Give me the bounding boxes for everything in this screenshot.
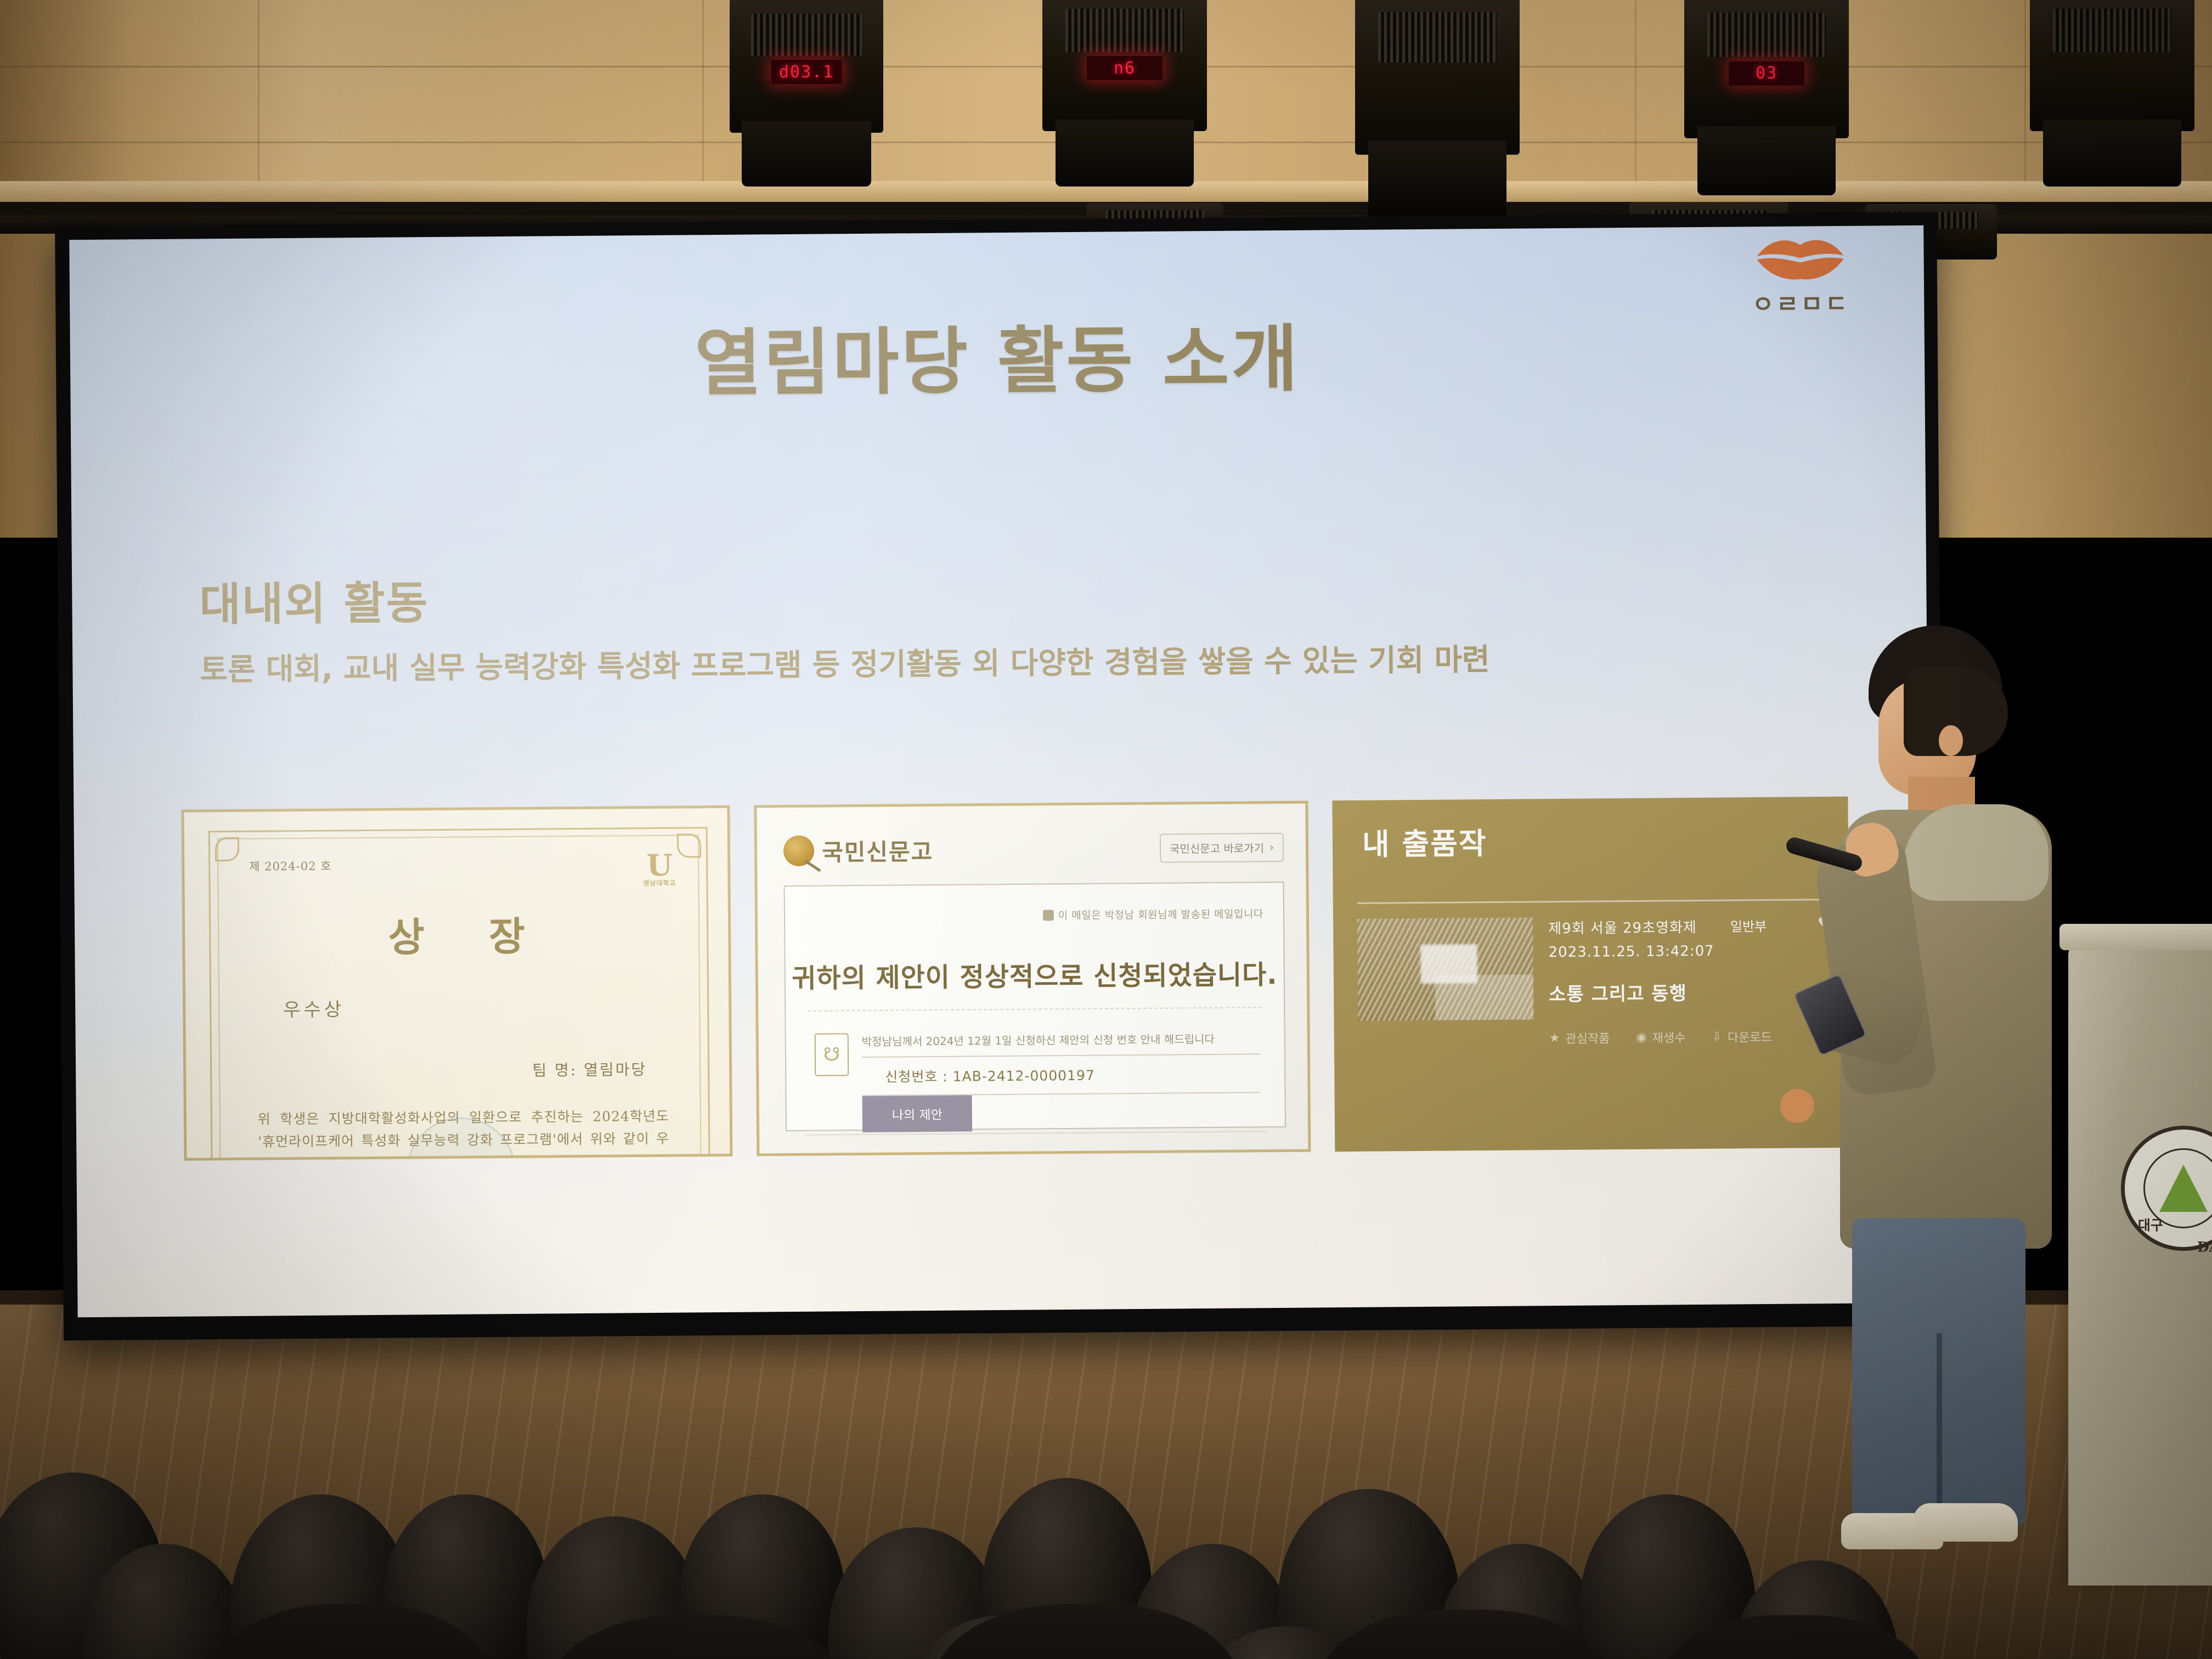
entry-thumbnail[interactable] (1357, 917, 1533, 1021)
emblem-text-kr: 대구 (2138, 1215, 2163, 1234)
thumbnail-highlight (1435, 975, 1534, 1020)
divider (808, 1007, 1262, 1012)
slide: ㅇㄹㅁㄷ 열림마당 활동 소개 대내외 활동 토론 대회, 교내 실무 능력강화… (69, 225, 1932, 1317)
portal-field-label: 제안제목 (817, 1152, 911, 1156)
entry-festival: 제9회 서울 29초영화제 (1548, 915, 1832, 938)
seal-subtext: 영남대학교 (643, 880, 676, 887)
portal-goto-label: 국민신문고 바로가기 (1170, 839, 1264, 856)
chevron-right-icon: › (1269, 840, 1274, 854)
stage-light (2030, 0, 2194, 187)
stage-light (1355, 0, 1520, 219)
podium-top (2059, 924, 2212, 950)
light-lens (1056, 120, 1194, 187)
presenter-ear (1939, 725, 1963, 756)
light-vent-grid (1378, 12, 1497, 63)
entry-film-title: 소통 그리고 동행 (1549, 977, 1833, 1006)
light-lens (2043, 120, 2181, 187)
portal-sentence: 박정남님께서 2024년 12월 1일 신청하신 제안의 신청 번호 안내 해드… (862, 1030, 1260, 1049)
presenter-hood (1904, 804, 2049, 901)
light-vent-grid (751, 14, 862, 56)
portal-appno-value: 1AB-2412-0000197 (953, 1068, 1095, 1085)
portal-field-row: 제안제목 더 나은 환경 보호를 위한 개선안 (817, 1149, 1261, 1156)
university-emblem: 대구 DAEGU (2121, 1126, 2212, 1251)
certificate-paragraph: 위 학생은 지방대학활성화사업의 일환으로 추진하는 2024학년도 '휴먼라이… (258, 1105, 670, 1161)
photo-scene: d03.1 n6 03 (0, 0, 2212, 1659)
entry-category: 일반부 (1730, 916, 1767, 935)
page-title: 열림마당 활동 소개 (70, 296, 1925, 415)
download-icon: ⇩ (1712, 1030, 1722, 1043)
section-heading: 대내외 활동 (199, 566, 429, 633)
portal-application-row: ☋ 박정남님께서 2024년 12월 1일 신청하신 제안의 신청 번호 안내 … (815, 1030, 1261, 1132)
portal-fields: 제안제목 더 나은 환경 보호를 위한 개선안 신청기관 환경부 (817, 1149, 1261, 1156)
wall-seam-vertical (1635, 0, 1637, 187)
light-vent-grid (2053, 9, 2171, 52)
certificate-prize: 우수상 (283, 994, 345, 1022)
certificate-corner-ornament (215, 837, 239, 861)
seal-letter: U (646, 848, 673, 883)
stage-light: n6 (1042, 0, 1207, 187)
portal-application-number: 신청번호 : 1AB-2412-0000197 (862, 1053, 1261, 1096)
mail-icon (1043, 910, 1054, 921)
certificate-card: 제 2024-02 호 U 영남대학교 상 장 우수상 팀 명: 열림마당 위 (181, 805, 732, 1161)
stage-light: d03.1 (730, 0, 883, 187)
certificate-doc-number: 제 2024-02 호 (249, 857, 331, 874)
emblem-text-ring: 대구 DAEGU (2125, 1130, 2212, 1247)
floating-action-button[interactable] (1780, 1088, 1814, 1122)
portal-appno-label: 신청번호 : (885, 1069, 948, 1085)
entry-stat-value: 재생수 (1652, 1028, 1686, 1046)
portal-brand: 국민신문고 (783, 833, 934, 867)
my-entry-card: 내 출품작 1 일반부 제9회 서울 29초영화제 2023.11 (1332, 797, 1850, 1152)
entry-metadata: 일반부 제9회 서울 29초영화제 2023.11.25. 13:42:07 소… (1548, 915, 1833, 1047)
portal-note: 이 메일은 박정남 회원님께 발송된 메일입니다 (1043, 906, 1264, 922)
certificate-team-label: 팀 명: (532, 1061, 577, 1080)
portal-field-value: 더 나은 환경 보호를 위한 개선안 (911, 1149, 1261, 1156)
entry-stat-value: 다운로드 (1728, 1028, 1772, 1046)
emblem-text-en: DAEGU (2197, 1239, 2212, 1255)
portal-content-box: 이 메일은 박정남 회원님께 발송된 메일입니다 귀하의 제안이 정상적으로 신… (784, 882, 1286, 1131)
entry-stat-value: 관심작품 (1565, 1029, 1610, 1047)
brush-seal-icon (783, 836, 814, 866)
entry-item[interactable]: 1 일반부 제9회 서울 29초영화제 2023.11.25. 13:42:07… (1357, 915, 1833, 1048)
lips-icon (1753, 236, 1847, 281)
wall-seam-vertical (2024, 0, 2026, 187)
projection-screen-frame: ㅇㄹㅁㄷ 열림마당 활동 소개 대내외 활동 토론 대회, 교내 실무 능력강화… (55, 212, 1945, 1341)
light-led-display: n6 (1087, 56, 1163, 80)
portal-screenshot-card: 국민신문고 국민신문고 바로가기 › 이 메일은 박정남 회원님께 발송된 메일… (754, 801, 1311, 1156)
university-seal: U 영남대학교 (643, 850, 676, 887)
card-row: 제 2024-02 호 U 영남대학교 상 장 우수상 팀 명: 열림마당 위 (181, 797, 1850, 1161)
my-entry-title: 내 출품작 (1362, 819, 1487, 864)
projection-screen: ㅇㄹㅁㄷ 열림마당 활동 소개 대내외 활동 토론 대회, 교내 실무 능력강화… (69, 225, 1932, 1317)
light-vent-grid (1065, 9, 1184, 52)
light-led-display: d03.1 (771, 60, 842, 84)
portal-application-detail: 박정남님께서 2024년 12월 1일 신청하신 제안의 신청 번호 안내 해드… (862, 1030, 1261, 1132)
certificate-badge-icon: ☋ (815, 1033, 849, 1076)
portal-goto-link[interactable]: 국민신문고 바로가기 › (1160, 832, 1284, 862)
star-icon: ★ (1549, 1031, 1560, 1045)
wall-seam-vertical (702, 0, 704, 187)
my-proposal-button[interactable]: 나의 제안 (862, 1095, 973, 1132)
light-led-display: 03 (1729, 61, 1804, 86)
portal-header: 국민신문고 국민신문고 바로가기 › (783, 823, 1284, 874)
portal-headline: 귀하의 제안이 정상적으로 신청되었습니다. (786, 953, 1284, 995)
wall-seam-vertical (258, 0, 259, 187)
divider (1357, 899, 1832, 904)
portal-brand-name: 국민신문고 (822, 833, 934, 867)
certificate-title: 상 장 (185, 902, 729, 964)
certificate-team-value: 열림마당 (584, 1060, 647, 1079)
entry-stats: ★ 관심작품 ◉ 재생수 ⇩ 다운로드 (1549, 1027, 1833, 1047)
certificate-corner-ornament (677, 833, 701, 857)
eye-icon: ◉ (1636, 1030, 1646, 1044)
light-lens (742, 121, 871, 187)
entry-stat: ★ 관심작품 (1549, 1029, 1610, 1047)
certificate-team: 팀 명: 열림마당 (532, 1058, 647, 1081)
light-lens (1368, 141, 1506, 219)
entry-stat: ⇩ 다운로드 (1712, 1028, 1772, 1046)
audience (0, 1311, 2212, 1659)
light-vent-grid (1707, 13, 1826, 57)
portal-note-text: 이 메일은 박정남 회원님께 발송된 메일입니다 (1058, 906, 1264, 922)
entry-stat: ◉ 재생수 (1636, 1028, 1685, 1046)
light-lens (1697, 126, 1836, 195)
section-body-text: 토론 대회, 교내 실무 능력강화 특성화 프로그램 등 정기활동 외 다양한 … (200, 632, 1829, 689)
entry-datetime: 2023.11.25. 13:42:07 (1548, 942, 1832, 961)
stage-light: 03 (1684, 0, 1849, 195)
